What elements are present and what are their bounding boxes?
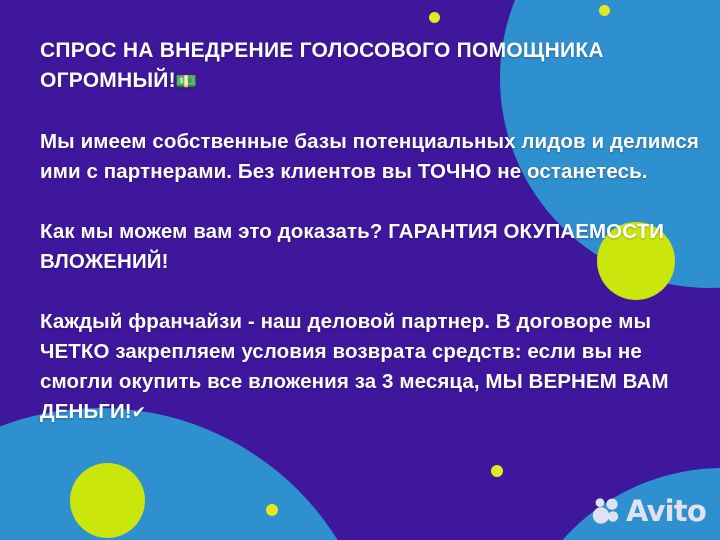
decorative-dot-bottom-left (266, 504, 278, 516)
headline: СПРОС НА ВНЕДРЕНИЕ ГОЛОСОВОГО ПОМОЩНИКА … (40, 36, 700, 97)
decorative-dot-top-right (599, 5, 610, 16)
decorative-circle-lime-bottom-left (70, 463, 145, 538)
promo-slide: СПРОС НА ВНЕДРЕНИЕ ГОЛОСОВОГО ПОМОЩНИКА … (0, 0, 720, 540)
slide-copy: СПРОС НА ВНЕДРЕНИЕ ГОЛОСОВОГО ПОМОЩНИКА … (40, 36, 700, 428)
avito-dots-icon (592, 498, 622, 524)
decorative-dot-top-center (429, 12, 440, 23)
headline-text: СПРОС НА ВНЕДРЕНИЕ ГОЛОСОВОГО ПОМОЩНИКА … (40, 39, 604, 92)
avito-logo: Avito (592, 494, 706, 528)
paragraph-guarantee: Как мы можем вам это доказать? ГАРАНТИЯ … (40, 217, 700, 277)
paragraph-refund: Каждый франчайзи - наш деловой партнер. … (40, 307, 700, 428)
avito-wordmark: Avito (626, 497, 706, 526)
check-mark-icon: ✔ (132, 403, 146, 423)
decorative-dot-bottom-center (491, 465, 503, 477)
banknote-icon: 💵 (176, 72, 197, 92)
paragraph-leads: Мы имеем собственные базы потенциальных … (40, 127, 700, 187)
